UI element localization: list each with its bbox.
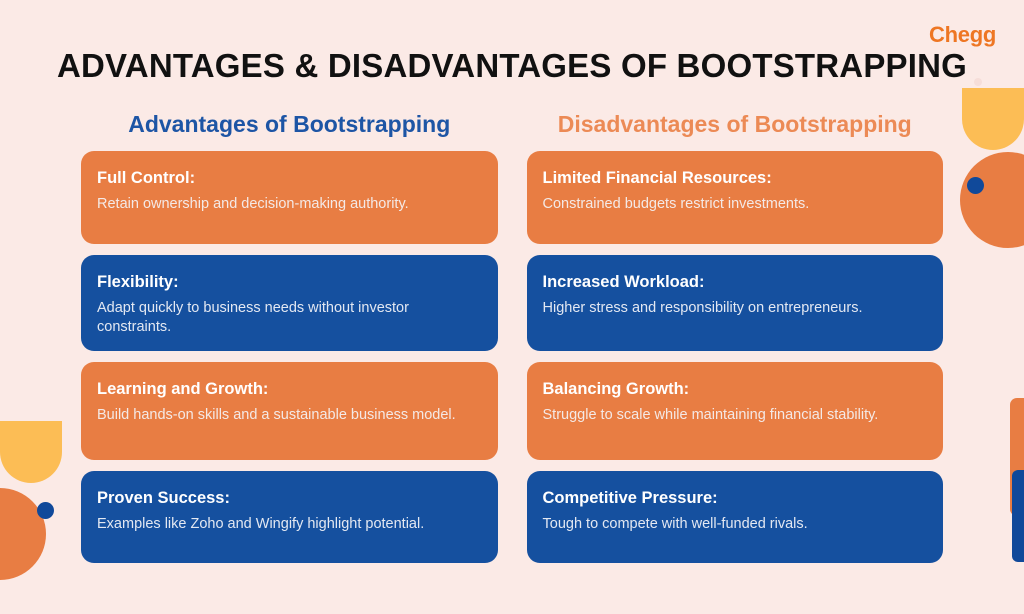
card-description: Build hands-on skills and a sustainable … <box>97 406 482 426</box>
column-disadvantages: Disadvantages of Bootstrapping Limited F… <box>527 112 944 574</box>
card-title: Flexibility: <box>97 272 482 293</box>
card-description: Tough to compete with well-funded rivals… <box>543 515 928 535</box>
card-title: Proven Success: <box>97 488 482 509</box>
columns-container: Advantages of Bootstrapping Full Control… <box>0 112 1024 574</box>
card-description: Higher stress and responsibility on entr… <box>543 299 928 319</box>
card-title: Learning and Growth: <box>97 379 482 400</box>
card-balancing-growth: Balancing Growth: Struggle to scale whil… <box>527 362 944 460</box>
card-learning-and-growth: Learning and Growth: Build hands-on skil… <box>81 362 498 460</box>
card-description: Adapt quickly to business needs without … <box>97 299 482 338</box>
card-proven-success: Proven Success: Examples like Zoho and W… <box>81 471 498 563</box>
card-full-control: Full Control: Retain ownership and decis… <box>81 151 498 244</box>
column-advantages: Advantages of Bootstrapping Full Control… <box>81 112 498 574</box>
card-title: Limited Financial Resources: <box>543 168 928 189</box>
card-limited-financial-resources: Limited Financial Resources: Constrained… <box>527 151 944 244</box>
card-title: Competitive Pressure: <box>543 488 928 509</box>
chegg-logo: Chegg <box>929 24 996 46</box>
column-heading-advantages: Advantages of Bootstrapping <box>81 112 498 137</box>
page-title: ADVANTAGES & DISADVANTAGES OF BOOTSTRAPP… <box>0 47 1024 85</box>
card-competitive-pressure: Competitive Pressure: Tough to compete w… <box>527 471 944 563</box>
card-title: Increased Workload: <box>543 272 928 293</box>
infographic-canvas: Chegg ADVANTAGES & DISADVANTAGES OF BOOT… <box>0 0 1024 614</box>
card-increased-workload: Increased Workload: Higher stress and re… <box>527 255 944 351</box>
card-description: Retain ownership and decision-making aut… <box>97 195 482 215</box>
card-description: Examples like Zoho and Wingify highlight… <box>97 515 482 535</box>
card-title: Balancing Growth: <box>543 379 928 400</box>
card-description: Struggle to scale while maintaining fina… <box>543 406 928 426</box>
card-title: Full Control: <box>97 168 482 189</box>
column-heading-disadvantages: Disadvantages of Bootstrapping <box>527 112 944 137</box>
card-description: Constrained budgets restrict investments… <box>543 195 928 215</box>
card-flexibility: Flexibility: Adapt quickly to business n… <box>81 255 498 351</box>
